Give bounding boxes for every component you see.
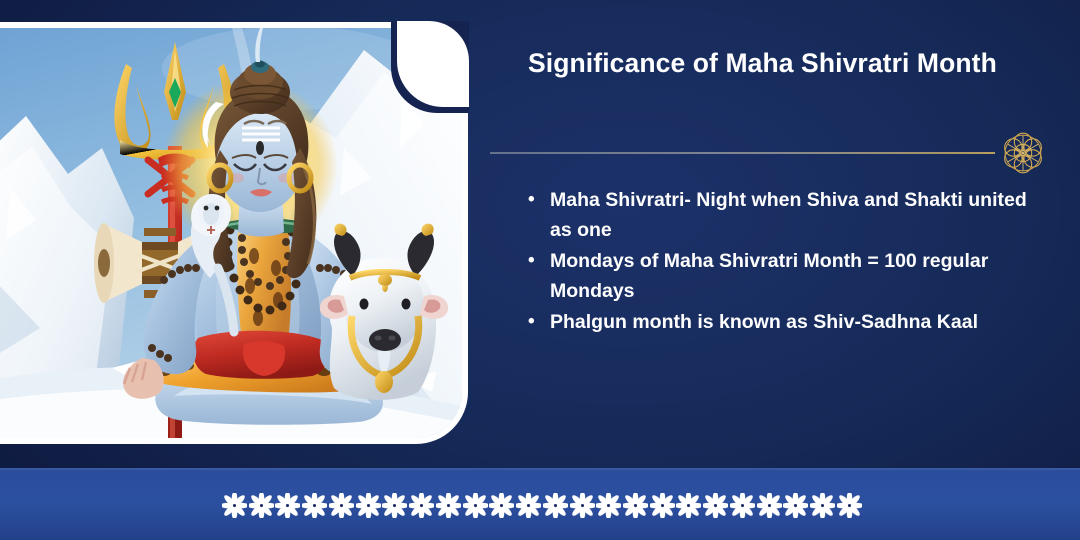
flower-ornament-icon [730, 493, 755, 518]
list-item: • Maha Shivratri- Night when Shiva and S… [528, 185, 1048, 245]
flower-ornament-icon [382, 493, 407, 518]
flower-ornament-icon [436, 493, 461, 518]
list-item: • Phalgun month is known as Shiv-Sadhna … [528, 307, 1048, 337]
flower-ornament-icon [570, 493, 595, 518]
illustration-artwork [0, 28, 462, 438]
shiva-meditating-illustration [0, 28, 462, 438]
flower-ornament-icon [302, 493, 327, 518]
list-item-text: Maha Shivratri- Night when Shiva and Sha… [550, 185, 1048, 245]
page-title: Significance of Maha Shivratri Month [528, 46, 998, 80]
flower-ornament-icon [623, 493, 648, 518]
illustration-frame [0, 22, 468, 444]
list-item-text: Phalgun month is known as Shiv-Sadhna Ka… [550, 307, 1048, 337]
bullet-marker-icon: • [528, 185, 550, 214]
flower-ornament-icon [516, 493, 541, 518]
slide-canvas: Significance of Maha Shivratri Month • M… [0, 0, 1080, 540]
flower-ornament-icon [596, 493, 621, 518]
flower-ornament-icon [222, 493, 247, 518]
list-item: • Mondays of Maha Shivratri Month = 100 … [528, 246, 1048, 306]
bullet-marker-icon: • [528, 307, 550, 336]
flower-ornament-icon [783, 493, 808, 518]
flower-border-strip [222, 485, 862, 525]
flower-ornament-icon [489, 493, 514, 518]
content-panel: Significance of Maha Shivratri Month • M… [520, 0, 1080, 468]
list-item-text: Mondays of Maha Shivratri Month = 100 re… [550, 246, 1048, 306]
divider-rule [490, 152, 995, 154]
flower-ornament-icon [810, 493, 835, 518]
flower-ornament-icon [676, 493, 701, 518]
bullet-marker-icon: • [528, 246, 550, 275]
flower-ornament-icon [543, 493, 568, 518]
flower-ornament-icon [329, 493, 354, 518]
mandala-flower-of-life-icon [994, 124, 1052, 182]
flower-ornament-icon [703, 493, 728, 518]
flower-ornament-icon [356, 493, 381, 518]
flower-ornament-icon [275, 493, 300, 518]
flower-ornament-icon [249, 493, 274, 518]
flower-ornament-icon [837, 493, 862, 518]
bullet-list: • Maha Shivratri- Night when Shiva and S… [528, 185, 1048, 338]
flower-ornament-icon [757, 493, 782, 518]
flower-ornament-icon [409, 493, 434, 518]
flower-ornament-icon [463, 493, 488, 518]
flower-ornament-icon [650, 493, 675, 518]
